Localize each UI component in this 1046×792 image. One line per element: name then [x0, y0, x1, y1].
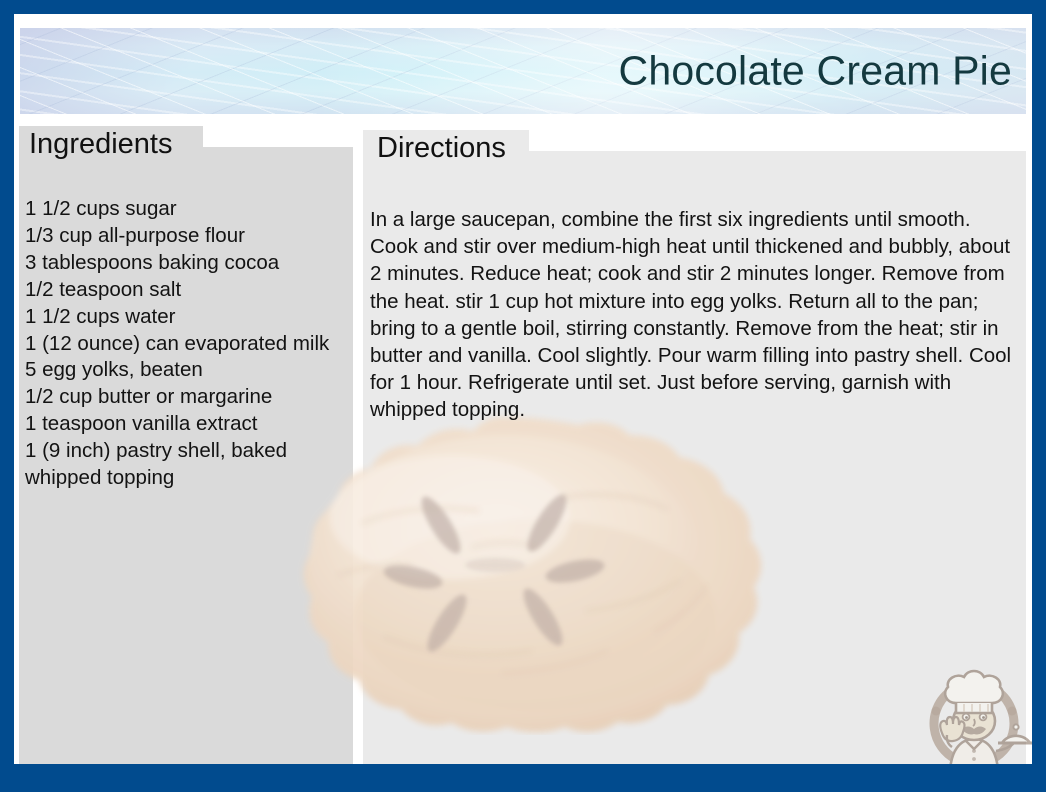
- page-title: Chocolate Cream Pie: [619, 48, 1012, 95]
- ingredient-item: 1 1/2 cups water: [25, 304, 357, 331]
- ingredient-list: 1 1/2 cups sugar1/3 cup all-purpose flou…: [25, 196, 357, 492]
- ingredients-tab-notch: [203, 126, 353, 147]
- ingredient-item: 1/2 cup butter or margarine: [25, 384, 357, 411]
- recipe-page: Chocolate Cream Pie Ingredients Directio…: [14, 14, 1032, 764]
- ingredient-item: 1 (12 ounce) can evaporated milk: [25, 331, 357, 358]
- ingredient-item: 1 1/2 cups sugar: [25, 196, 357, 223]
- recipe-card: Chocolate Cream Pie Ingredients Directio…: [0, 0, 1046, 792]
- header-banner: Chocolate Cream Pie: [20, 28, 1026, 114]
- ingredient-item: 1 teaspoon vanilla extract: [25, 411, 357, 438]
- ingredient-item: 1 (9 inch) pastry shell, baked: [25, 438, 357, 465]
- ingredient-item: 3 tablespoons baking cocoa: [25, 250, 357, 277]
- tab-ingredients: Ingredients: [19, 126, 203, 167]
- ingredient-item: 1/3 cup all-purpose flour: [25, 223, 357, 250]
- ingredient-item: whipped topping: [25, 465, 357, 492]
- ingredient-item: 5 egg yolks, beaten: [25, 357, 357, 384]
- directions-body: In a large saucepan, combine the first s…: [370, 206, 1024, 424]
- directions-tab-notch: [529, 130, 1026, 151]
- tab-directions: Directions: [363, 130, 529, 171]
- ingredient-item: 1/2 teaspoon salt: [25, 277, 357, 304]
